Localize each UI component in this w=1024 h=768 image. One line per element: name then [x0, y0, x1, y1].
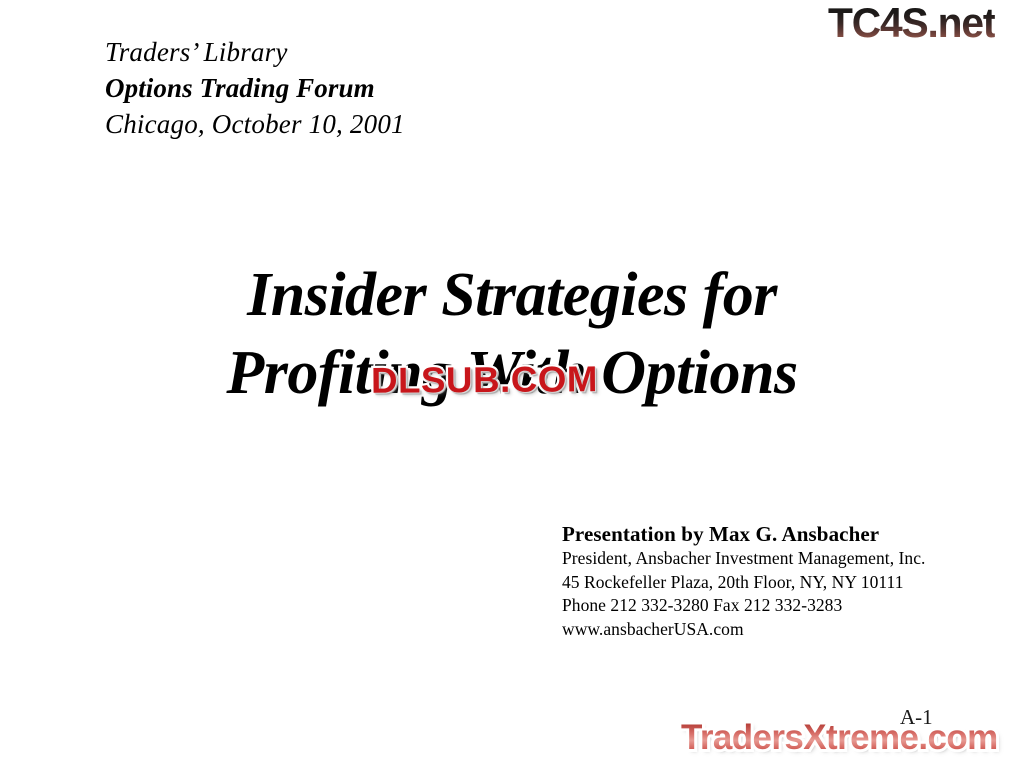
dlsub-watermark-text: DLSUB.COM — [371, 359, 598, 401]
presenter-phone-fax: Phone 212 332-3280 Fax 212 332-3283 — [562, 594, 982, 618]
presenter-address: 45 Rockefeller Plaza, 20th Floor, NY, NY… — [562, 571, 982, 595]
slide-number: A-1 — [900, 705, 933, 729]
header-event-name: Options Trading Forum — [105, 70, 625, 106]
tradersxtreme-logo-text: TradersXtreme.com — [681, 718, 998, 758]
tradersxtreme-logo-stack: TradersXtreme.com TradersXtreme.com — [681, 718, 998, 758]
tradersxtreme-logo: TradersXtreme.com TradersXtreme.com — [681, 718, 998, 758]
page-title-line-1: Insider Strategies for — [0, 256, 1024, 334]
header-organization: Traders’ Library — [105, 34, 625, 70]
dlsub-watermark: DLSUB.COM — [371, 359, 594, 401]
presenter-website: www.ansbacherUSA.com — [562, 618, 982, 642]
presenter-info: Presentation by Max G. Ansbacher Preside… — [562, 521, 982, 641]
presenter-name: Presentation by Max G. Ansbacher — [562, 521, 982, 547]
tc4s-net-logo: TC4S.net — [828, 1, 1000, 45]
tc4s-net-logo-text: TC4S.net — [828, 1, 995, 45]
slide-header: Traders’ Library Options Trading Forum C… — [105, 34, 625, 142]
header-location-date: Chicago, October 10, 2001 — [105, 106, 625, 142]
presentation-slide: Traders’ Library Options Trading Forum C… — [0, 0, 1024, 768]
presenter-title-company: President, Ansbacher Investment Manageme… — [562, 547, 982, 571]
